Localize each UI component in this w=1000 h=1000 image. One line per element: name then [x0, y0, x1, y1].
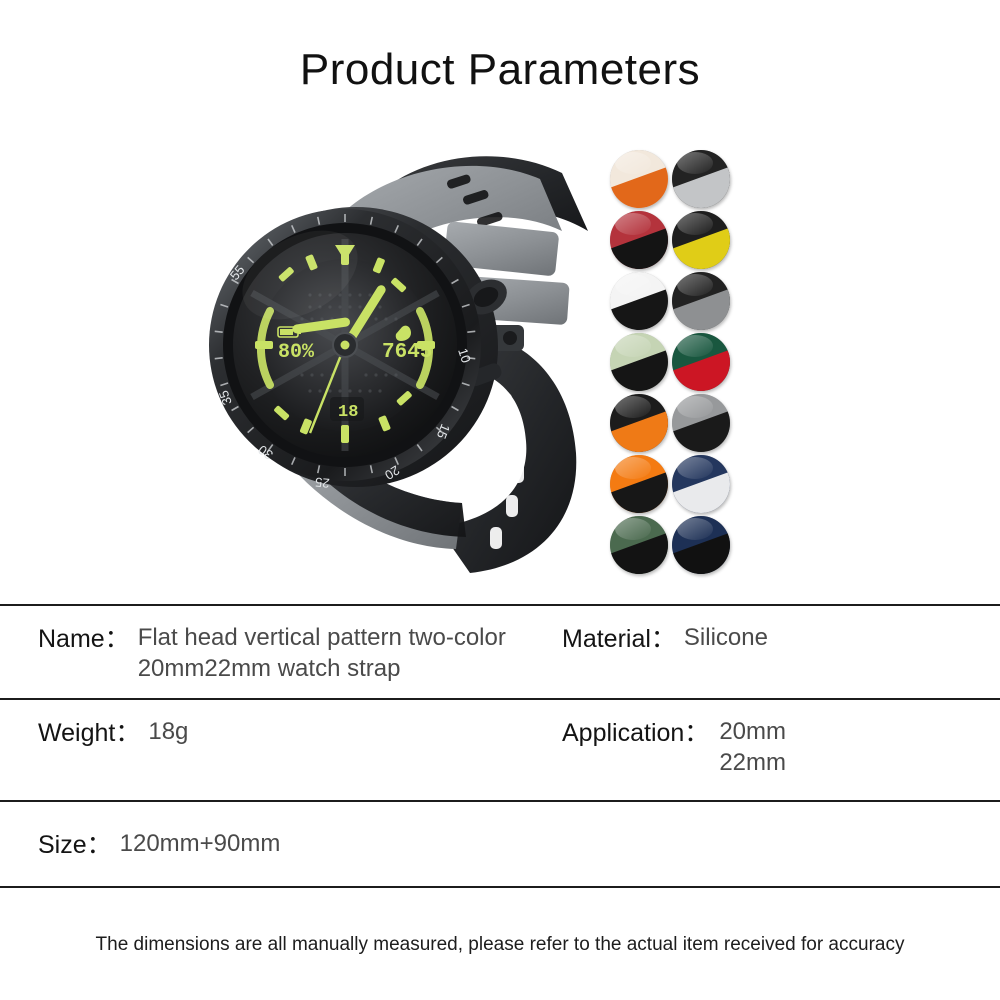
spec-cell-weight: Weight： 18g: [0, 716, 540, 750]
measurement-disclaimer: The dimensions are all manually measured…: [0, 932, 1000, 958]
color-swatch[interactable]: [610, 516, 668, 574]
color-swatch[interactable]: [610, 272, 668, 330]
spec-value-application: 20mm 22mm: [709, 716, 786, 778]
color-swatch[interactable]: [610, 333, 668, 391]
spec-cell-material: Material： Silicone: [540, 622, 1000, 656]
spec-value-line: Flat head vertical pattern two-color: [138, 622, 506, 653]
color-swatch[interactable]: [610, 150, 668, 208]
spec-cell-application: Application： 20mm 22mm: [540, 716, 1000, 778]
color-swatch-grid[interactable]: [610, 150, 740, 574]
spec-row-name: Name： Flat head vertical pattern two-col…: [0, 606, 1000, 698]
spec-label-name: Name：: [38, 622, 130, 656]
color-swatch[interactable]: [672, 150, 730, 208]
spec-cell-name: Name： Flat head vertical pattern two-col…: [0, 622, 540, 684]
spec-cell-size: Size： 120mm+90mm: [0, 828, 540, 862]
product-image: 05 10 15 20 25 30 35 55: [170, 135, 600, 575]
spec-value-weight: 18g: [140, 716, 188, 747]
spec-row-weight: Weight： 18g Application： 20mm 22mm: [0, 700, 1000, 800]
color-swatch[interactable]: [610, 211, 668, 269]
spec-label-application: Application：: [562, 716, 709, 750]
spec-value-line: 120mm+90mm: [120, 828, 281, 859]
color-swatch[interactable]: [672, 455, 730, 513]
spec-value-material: Silicone: [676, 622, 768, 653]
spec-value-size: 120mm+90mm: [112, 828, 281, 859]
spec-value-line: 18g: [148, 716, 188, 747]
spec-label-material: Material：: [562, 622, 676, 656]
spec-value-line: 22mm: [719, 747, 786, 778]
table-bottom-rule: [0, 886, 1000, 888]
color-swatch[interactable]: [610, 455, 668, 513]
steps-text: 7645: [382, 341, 432, 364]
color-swatch[interactable]: [672, 516, 730, 574]
product-hero: 05 10 15 20 25 30 35 55: [0, 125, 1000, 595]
spec-value-line: Silicone: [684, 622, 768, 653]
page-title: Product Parameters: [0, 44, 1000, 96]
spec-label-weight: Weight：: [38, 716, 140, 750]
color-swatch[interactable]: [672, 333, 730, 391]
color-swatch[interactable]: [672, 394, 730, 452]
color-swatch[interactable]: [672, 272, 730, 330]
spec-value-line: 20mm: [719, 716, 786, 747]
svg-text:25: 25: [314, 475, 330, 491]
battery-percent-text: 80%: [278, 341, 315, 364]
spec-label-size: Size：: [38, 828, 112, 862]
spec-value-line: 20mm22mm watch strap: [138, 653, 506, 684]
spec-value-name: Flat head vertical pattern two-color 20m…: [130, 622, 506, 684]
spec-table: Name： Flat head vertical pattern two-col…: [0, 604, 1000, 888]
color-swatch[interactable]: [672, 211, 730, 269]
spec-row-size: Size： 120mm+90mm: [0, 802, 1000, 886]
date-text: 18: [338, 403, 358, 422]
color-swatch[interactable]: [610, 394, 668, 452]
